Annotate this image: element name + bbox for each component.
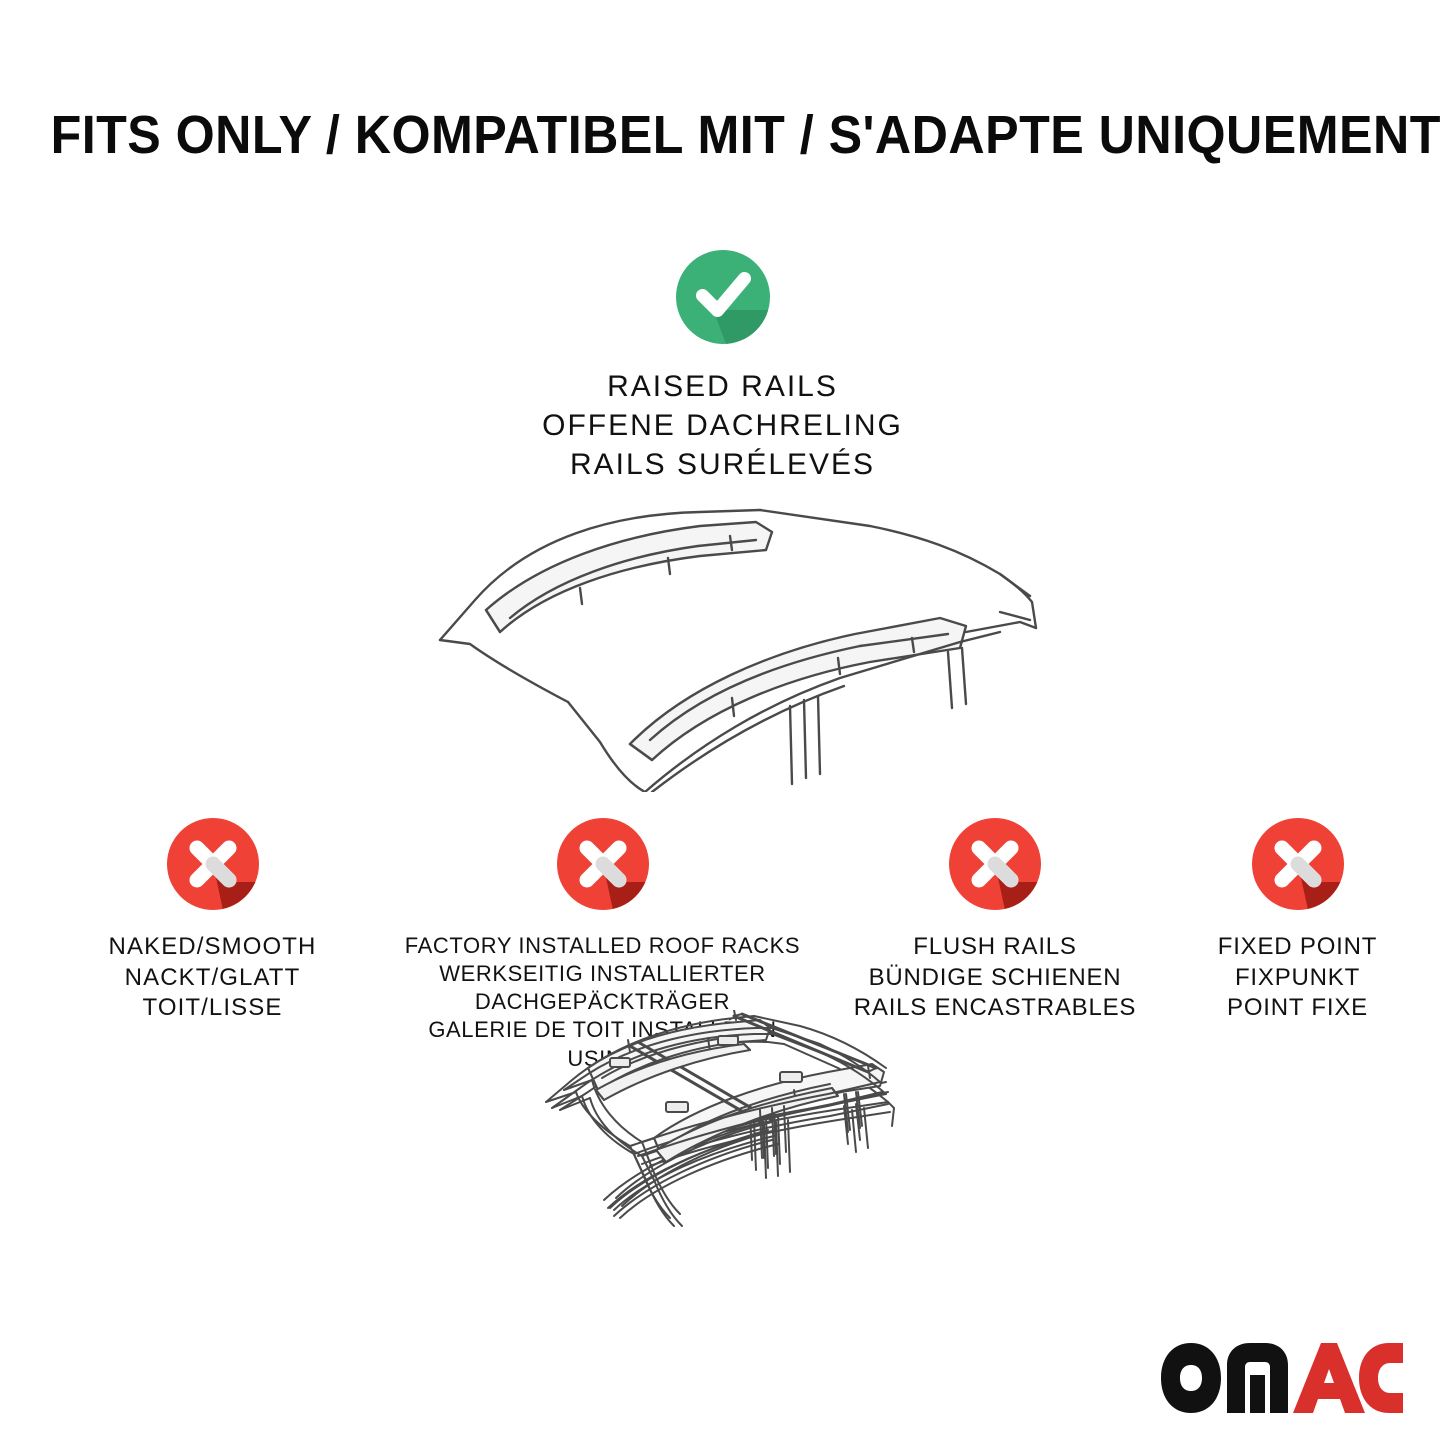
x-circle-icon bbox=[557, 818, 649, 910]
compatible-line-2: RAILS SURÉLEVÉS bbox=[0, 445, 1445, 484]
incompatible-3-line-2: POINT FIXE bbox=[1175, 993, 1420, 1024]
check-circle-icon bbox=[676, 250, 770, 344]
incompatible-2-line-1: BÜNDIGE SCHIENEN bbox=[815, 963, 1175, 994]
car-roof-fixed-point-illustration bbox=[558, 1022, 888, 1250]
incompatible-0-line-1: NACKT/GLATT bbox=[30, 963, 395, 994]
check-mark-icon bbox=[676, 250, 770, 344]
incompatible-3-line-0: FIXED POINT bbox=[1175, 932, 1420, 963]
x-mark-icon bbox=[1252, 818, 1344, 910]
incompatible-item-fixed-point: FIXED POINT FIXPUNKT POINT FIXE bbox=[1175, 818, 1420, 1024]
x-icon-wrap-1 bbox=[400, 818, 805, 922]
logo-letter-m-notch bbox=[1250, 1375, 1265, 1413]
x-icon-wrap-3 bbox=[1175, 818, 1420, 922]
incompatible-caption-0: NAKED/SMOOTH NACKT/GLATT TOIT/LISSE bbox=[30, 932, 395, 1024]
compatibility-infographic: FITS ONLY / KOMPATIBEL MIT / S'ADAPTE UN… bbox=[0, 0, 1445, 1445]
car-roof-raised-rails-illustration bbox=[400, 492, 1040, 792]
incompatible-caption-3: FIXED POINT FIXPUNKT POINT FIXE bbox=[1175, 932, 1420, 1024]
x-icon-wrap-2 bbox=[815, 818, 1175, 922]
x-circle-icon bbox=[1252, 818, 1344, 910]
logo-letter-a bbox=[1293, 1343, 1365, 1413]
incompatible-2-line-2: RAILS ENCASTRABLES bbox=[815, 993, 1175, 1024]
compatible-line-0: RAISED RAILS bbox=[0, 367, 1445, 406]
incompatible-item-flush-rails: FLUSH RAILS BÜNDIGE SCHIENEN RAILS ENCAS… bbox=[815, 818, 1175, 1024]
x-mark-icon bbox=[949, 818, 1041, 910]
incompatible-1-line-1: WERKSEITIG INSTALLIERTER bbox=[400, 960, 805, 988]
incompatible-item-naked-smooth: NAKED/SMOOTH NACKT/GLATT TOIT/LISSE bbox=[30, 818, 395, 1024]
x-mark-icon bbox=[557, 818, 649, 910]
page-title: FITS ONLY / KOMPATIBEL MIT / S'ADAPTE UN… bbox=[51, 104, 1395, 166]
incompatible-3-line-1: FIXPUNKT bbox=[1175, 963, 1420, 994]
x-icon-wrap-0 bbox=[30, 818, 395, 922]
incompatible-caption-2: FLUSH RAILS BÜNDIGE SCHIENEN RAILS ENCAS… bbox=[815, 932, 1175, 1024]
logo-letter-c bbox=[1359, 1343, 1403, 1413]
incompatible-0-line-2: TOIT/LISSE bbox=[30, 993, 395, 1024]
incompatible-0-line-0: NAKED/SMOOTH bbox=[30, 932, 395, 963]
omac-logo bbox=[1157, 1339, 1407, 1417]
compatible-section: RAISED RAILS OFFENE DACHRELING RAILS SUR… bbox=[0, 250, 1445, 484]
compatible-line-1: OFFENE DACHRELING bbox=[0, 406, 1445, 445]
x-circle-icon bbox=[167, 818, 259, 910]
x-mark-icon bbox=[167, 818, 259, 910]
x-circle-icon bbox=[949, 818, 1041, 910]
incompatible-2-line-0: FLUSH RAILS bbox=[815, 932, 1175, 963]
logo-letter-o bbox=[1161, 1343, 1221, 1413]
compatible-caption: RAISED RAILS OFFENE DACHRELING RAILS SUR… bbox=[0, 367, 1445, 484]
incompatible-1-line-0: FACTORY INSTALLED ROOF RACKS bbox=[400, 932, 805, 960]
